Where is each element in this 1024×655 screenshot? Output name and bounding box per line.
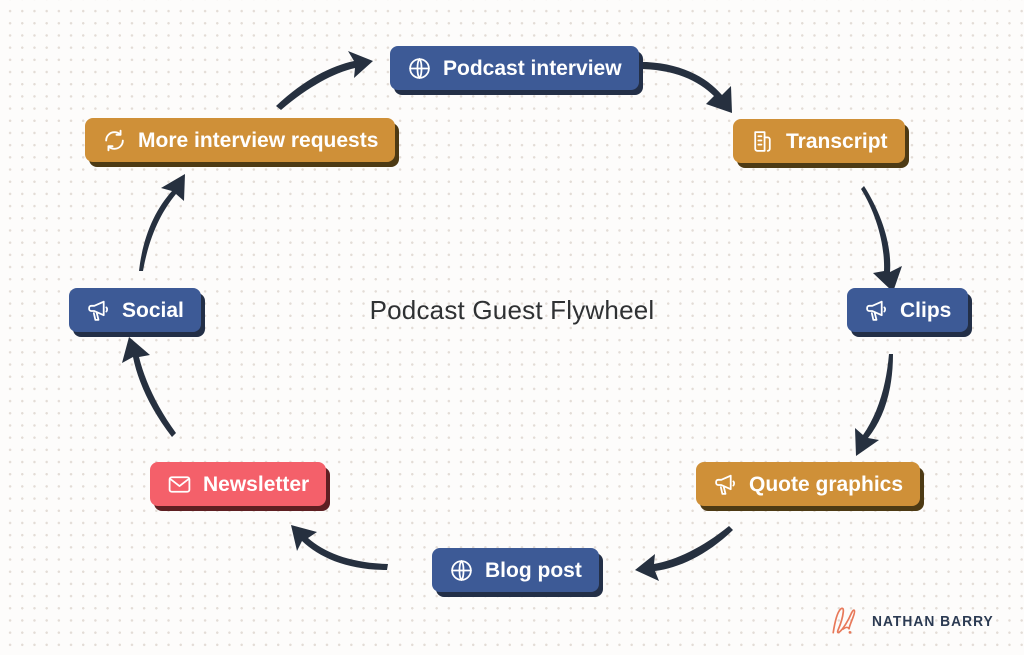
node-label: Clips	[900, 300, 951, 321]
envelope-icon	[167, 472, 192, 497]
arrow-transcript-to-clips	[861, 186, 902, 292]
node-quote-graphics[interactable]: Quote graphics	[696, 462, 920, 506]
brand-logo: NATHAN BARRY	[826, 603, 1004, 639]
node-label: Social	[122, 300, 184, 321]
node-newsletter[interactable]: Newsletter	[150, 462, 326, 506]
refresh-cycle-icon	[102, 128, 127, 153]
nathan-barry-monogram-icon	[826, 603, 862, 639]
node-label: Blog post	[485, 560, 582, 581]
arrow-social-to-more-requests	[139, 174, 185, 271]
node-more-interview-requests[interactable]: More interview requests	[85, 118, 395, 162]
globe-icon	[407, 56, 432, 81]
node-podcast-interview[interactable]: Podcast interview	[390, 46, 639, 90]
megaphone-icon	[713, 472, 738, 497]
node-blog-post[interactable]: Blog post	[432, 548, 599, 592]
node-label: Podcast interview	[443, 58, 622, 79]
node-label: Quote graphics	[749, 474, 903, 495]
document-icon	[750, 129, 775, 154]
megaphone-icon	[864, 298, 889, 323]
arrow-clips-to-quote-graphics	[855, 354, 893, 456]
node-label: Transcript	[786, 131, 888, 152]
node-label: Newsletter	[203, 474, 309, 495]
node-clips[interactable]: Clips	[847, 288, 968, 332]
arrow-newsletter-to-social	[122, 337, 176, 437]
megaphone-icon	[86, 298, 111, 323]
node-social[interactable]: Social	[69, 288, 201, 332]
node-label: More interview requests	[138, 130, 378, 151]
arrow-blog-post-to-newsletter	[291, 525, 388, 570]
arrow-quote-graphics-to-blog-post	[635, 526, 733, 581]
brand-wordmark: NATHAN BARRY	[872, 613, 994, 630]
diagram-canvas: .arw { fill: #26303f; }	[0, 0, 1024, 655]
globe-icon	[449, 558, 474, 583]
arrow-podcast-interview-to-transcript	[632, 62, 732, 113]
arrow-more-requests-to-podcast-interview	[276, 51, 373, 110]
node-transcript[interactable]: Transcript	[733, 119, 905, 163]
